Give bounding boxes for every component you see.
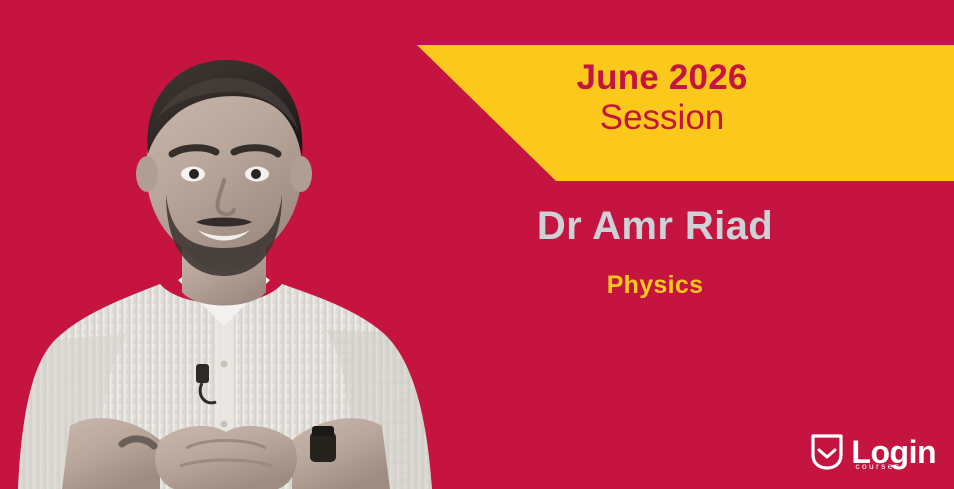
month-year-label: June 2026 xyxy=(512,58,812,97)
brand-logo: Login courses xyxy=(810,433,936,471)
logo-text-group: Login courses xyxy=(851,436,936,468)
instructor-block: Dr Amr Riad Physics xyxy=(455,204,855,300)
logo-tagline: courses xyxy=(855,462,901,471)
portrait-figure xyxy=(10,34,440,489)
promotional-banner: June 2026 Session Dr Amr Riad Physics Lo… xyxy=(0,0,954,489)
shield-chevron-icon xyxy=(810,433,844,471)
instructor-name: Dr Amr Riad xyxy=(455,204,855,248)
session-block: June 2026 Session xyxy=(512,58,812,138)
instructor-portrait xyxy=(10,34,440,489)
subject-label: Physics xyxy=(455,272,855,300)
session-label: Session xyxy=(512,97,812,138)
